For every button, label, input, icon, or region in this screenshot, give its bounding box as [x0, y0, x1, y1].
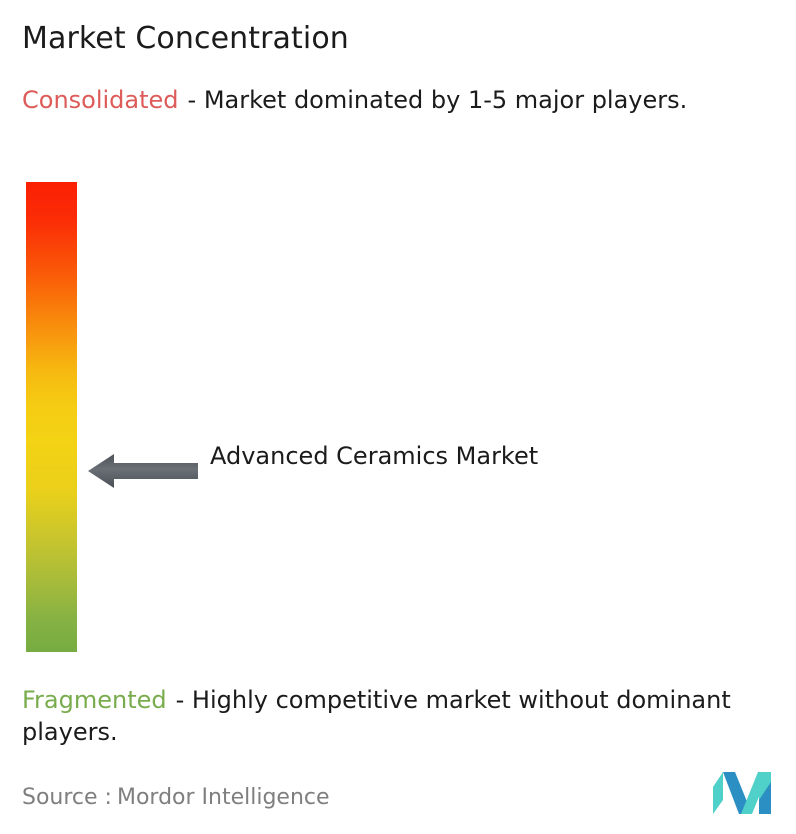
source-line: Source :Mordor Intelligence	[22, 783, 330, 813]
marker-label: Advanced Ceramics Market	[210, 439, 540, 474]
page-title: Market Concentration	[22, 20, 349, 58]
legend-fragmented-keyword: Fragmented	[22, 686, 167, 714]
source-value: Mordor Intelligence	[117, 785, 330, 810]
source-label: Source :	[22, 785, 112, 810]
legend-consolidated: Consolidated- Market dominated by 1-5 ma…	[22, 84, 778, 116]
arrow-left-icon	[88, 452, 198, 490]
legend-fragmented: Fragmented- Highly competitive market wi…	[22, 684, 786, 748]
mordor-intelligence-logo	[713, 770, 775, 815]
legend-consolidated-keyword: Consolidated	[22, 86, 179, 114]
legend-consolidated-description: - Market dominated by 1-5 major players.	[188, 86, 688, 114]
market-concentration-scale-bar	[26, 182, 77, 652]
